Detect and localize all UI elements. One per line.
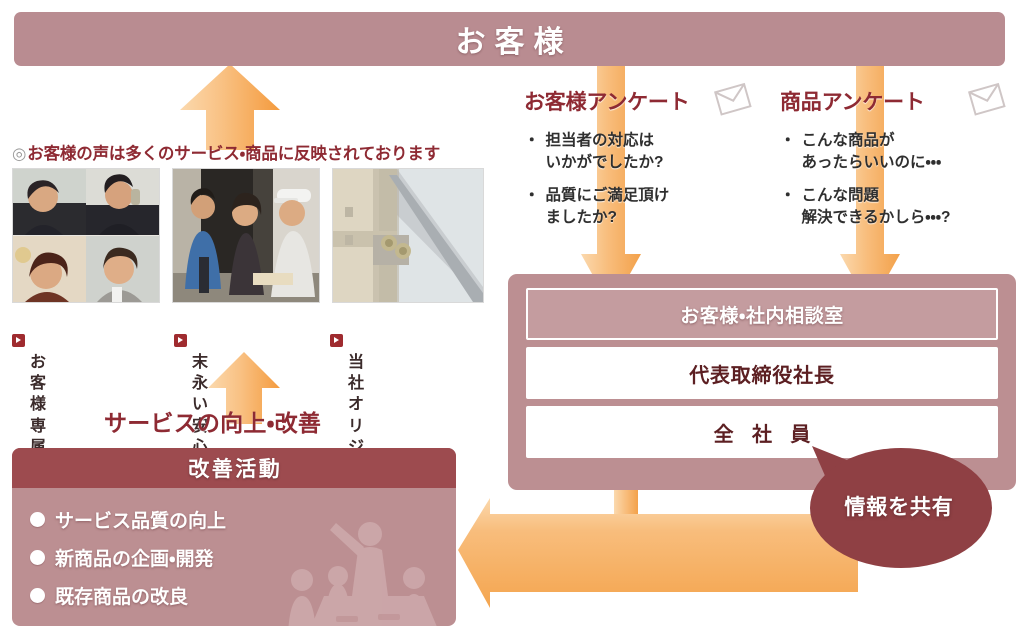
improvement-item: 新商品の企画・開発 [30, 538, 456, 576]
survey-item: ・ こんな商品が あったらいいのに・・・ [780, 130, 1016, 174]
survey-item-text: 品質にご満足頂け ましたか? [546, 185, 670, 229]
survey-item-text: こんな問題 解決できるかしら・・・? [802, 185, 951, 229]
survey-item: ・ こんな問題 解決できるかしら・・・? [780, 185, 1016, 229]
survey-item-text: こんな商品が あったらいいのに・・・ [802, 130, 942, 174]
improvement-activities-body: サービス品質の向上 新商品の企画・開発 既存商品の改良 [12, 488, 456, 626]
circle-bullet-icon [30, 512, 45, 527]
improvement-item: サービス品質の向上 [30, 500, 456, 538]
arrow-up-to-customer-icon [180, 64, 280, 150]
customer-banner-label: お客様 [447, 17, 573, 61]
business-team-grid-image [13, 169, 159, 302]
improvement-activities-header: 改善活動 [12, 448, 456, 488]
org-row-consultation-office: お客様・社内相談室 [526, 288, 998, 340]
survey-bullet-icon: ・ [524, 185, 540, 229]
staff-and-customers-image [173, 169, 319, 302]
customer-survey-items: ・ 担当者の対応は いかがでしたか? ・ 品質にご満足頂け ましたか? [524, 130, 760, 229]
improvement-item-label: サービス品質の向上 [55, 506, 226, 533]
circle-bullet-icon [30, 588, 45, 603]
org-row-president: 代表取締役社長 [526, 347, 998, 399]
photo-business-team [12, 168, 160, 303]
survey-bullet-icon: ・ [524, 130, 540, 174]
org-row-label: お客様・社内相談室 [680, 301, 844, 328]
photo-staff-customers [172, 168, 320, 303]
survey-item: ・ 品質にご満足頂け ましたか? [524, 185, 760, 229]
circle-mark-icon: ◎ [12, 145, 26, 163]
square-bullet-icon [174, 334, 187, 347]
improvement-item: 既存商品の改良 [30, 576, 456, 614]
photo-seismic-bracket [332, 168, 484, 303]
survey-item-text: 担当者の対応は いかがでしたか? [546, 130, 664, 174]
service-improvement-headline: サービスの向上・改善 [104, 404, 321, 438]
org-row-label: 代表取締役社長 [689, 359, 835, 388]
improvement-activities-panel: 改善活動 [12, 448, 456, 626]
envelope-icon [710, 80, 754, 120]
circle-bullet-icon [30, 550, 45, 565]
improvement-item-label: 既存商品の改良 [55, 582, 188, 609]
customer-survey-title-row: お客様アンケート [524, 86, 760, 116]
product-survey-items: ・ こんな商品が あったらいいのに・・・ ・ こんな問題 解決できるかしら・・・… [780, 130, 1016, 229]
square-bullet-icon [12, 334, 25, 347]
survey-bullet-icon: ・ [780, 185, 796, 229]
improvement-activities-title: 改善活動 [186, 453, 283, 483]
product-survey-title: 商品アンケート [780, 91, 925, 114]
customer-voice-text: お客様の声は多くのサービス・商品に反映されております [27, 145, 440, 163]
improvement-item-label: 新商品の企画・開発 [55, 544, 213, 571]
product-survey-block: 商品アンケート ・ こんな商品が あったらいいのに・・・ ・ こんな問題 解決で… [780, 86, 1016, 240]
product-survey-title-row: 商品アンケート [780, 86, 1016, 116]
customer-banner: お客様 [14, 12, 1005, 66]
seismic-bracket-image [333, 169, 483, 302]
arrow-left-feedback-loop-icon [458, 488, 858, 608]
survey-item: ・ 担当者の対応は いかがでしたか? [524, 130, 760, 174]
share-information-bubble: 情報を共有 [806, 440, 992, 572]
envelope-icon [964, 80, 1008, 120]
customer-voice-headline: ◎お客様の声は多くのサービス・商品に反映されております [12, 140, 440, 164]
speech-bubble-shape-icon [806, 440, 992, 572]
survey-bullet-icon: ・ [780, 130, 796, 174]
square-bullet-icon [330, 334, 343, 347]
customer-survey-block: お客様アンケート ・ 担当者の対応は いかがでしたか? ・ 品質にご満足頂け ま… [524, 86, 760, 240]
customer-survey-title: お客様アンケート [524, 91, 689, 114]
diagram-canvas: お客様 ◎お客様の声は多くのサービス・商品に反映されております [0, 0, 1019, 640]
org-row-label: 全 社 員 [707, 418, 817, 447]
